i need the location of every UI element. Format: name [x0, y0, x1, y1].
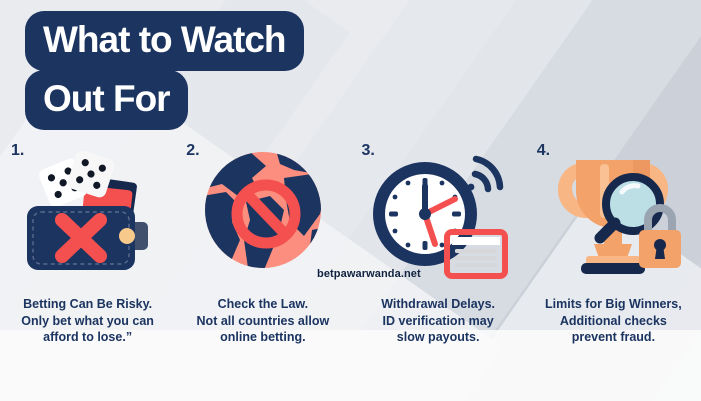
- caption-line: online betting.: [185, 329, 340, 346]
- clock-document-icon: [351, 144, 526, 279]
- caption-line: Not all countries allow: [185, 313, 340, 330]
- watermark: betpawarwanda.net: [317, 268, 421, 280]
- caption-line: Withdrawal Delays.: [361, 296, 516, 313]
- caption-line: ID verification may: [361, 313, 516, 330]
- wallet-dice-icon: [0, 144, 175, 279]
- caption-line: Betting Can Be Risky.: [10, 296, 165, 313]
- title-line-2: Out For: [30, 75, 183, 125]
- tip-item-2: 2.: [175, 140, 350, 346]
- infographic-canvas: What to Watch Out For 1.: [0, 0, 701, 401]
- caption-line: slow payouts.: [361, 329, 516, 346]
- caption-line: prevent fraud.: [536, 329, 691, 346]
- item-caption-4: Limits for Big Winners, Additional check…: [526, 296, 701, 346]
- caption-line: Only bet what you can: [10, 313, 165, 330]
- tips-row: 1.: [0, 140, 701, 346]
- tip-item-3: 3.: [351, 140, 526, 346]
- page-title: What to Watch Out For: [30, 16, 299, 125]
- globe-prohibited-icon: [175, 144, 350, 279]
- caption-line: afford to lose.”: [10, 329, 165, 346]
- caption-line: Check the Law.: [185, 296, 340, 313]
- item-caption-3: Withdrawal Delays. ID verification may s…: [351, 296, 526, 346]
- item-caption-1: Betting Can Be Risky. Only bet what you …: [0, 296, 175, 346]
- caption-line: Additional checks: [536, 313, 691, 330]
- item-caption-2: Check the Law. Not all countries allow o…: [175, 296, 350, 346]
- caption-line: Limits for Big Winners,: [536, 296, 691, 313]
- trophy-magnifier-lock-icon: [526, 144, 701, 279]
- title-line-1: What to Watch: [30, 16, 299, 66]
- tip-item-4: 4.: [526, 140, 701, 346]
- tip-item-1: 1.: [0, 140, 175, 346]
